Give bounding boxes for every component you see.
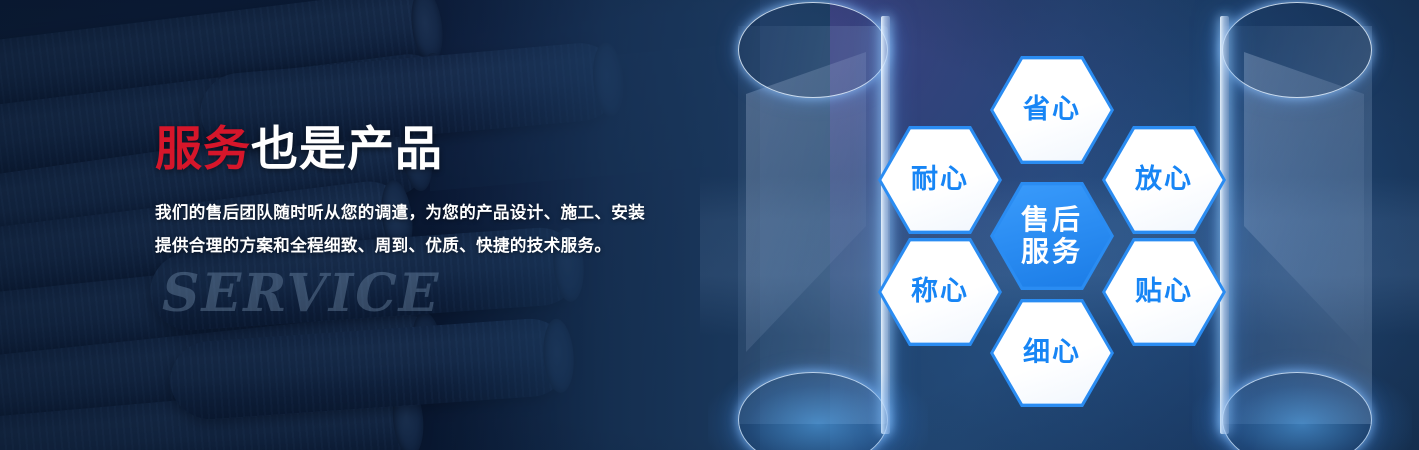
hexagon-label: 省心	[1023, 94, 1081, 126]
hexagon-label: 耐心	[911, 164, 969, 196]
center-label-line-1: 售后	[1021, 204, 1083, 236]
hexagon-label: 放心	[1135, 164, 1193, 196]
description-text: 我们的售后团队随时听从您的调遣，为您的产品设计、施工、安装 提供合理的方案和全程…	[155, 196, 735, 262]
hexagon-center-after-sales-service[interactable]: 售后 服务	[990, 182, 1114, 290]
glass-cylinder-left-icon	[738, 26, 888, 424]
service-banner: 服务也是产品 我们的售后团队随时听从您的调遣，为您的产品设计、施工、安装 提供合…	[0, 0, 1419, 450]
hexagon-tiexin[interactable]: 贴心	[1102, 238, 1226, 346]
hexagon-label: 称心	[911, 276, 969, 308]
headline-rest: 也是产品	[251, 122, 443, 177]
watermark-text: SERVICE	[162, 263, 440, 324]
hexagon-cluster: 耐心 称心 省心 细心 放心 贴心 售后 服务	[878, 52, 1226, 406]
hexagon-naixin[interactable]: 耐心	[878, 126, 1002, 234]
text-block: 服务也是产品 我们的售后团队随时听从您的调遣，为您的产品设计、施工、安装 提供合…	[155, 126, 735, 262]
headline-accent: 服务	[155, 122, 251, 177]
hexagon-shengxin[interactable]: 省心	[990, 56, 1114, 164]
hexagon-center-label: 售后 服务	[1021, 204, 1083, 268]
hexagon-label: 细心	[1023, 337, 1081, 369]
hexagon-chenxin[interactable]: 称心	[878, 238, 1002, 346]
page-title: 服务也是产品	[155, 126, 735, 173]
hexagon-fangxin[interactable]: 放心	[1102, 126, 1226, 234]
cylinder-rim-top	[738, 2, 888, 98]
description-line-2: 提供合理的方案和全程细致、周到、优质、快捷的技术服务。	[155, 229, 735, 262]
center-label-line-2: 服务	[1021, 236, 1083, 268]
cylinder-rim-top	[1222, 2, 1372, 98]
description-line-1: 我们的售后团队随时听从您的调遣，为您的产品设计、施工、安装	[155, 196, 735, 229]
hexagon-label: 贴心	[1135, 276, 1193, 308]
hexagon-xixin[interactable]: 细心	[990, 299, 1114, 407]
glass-cylinder-right-icon	[1222, 26, 1372, 424]
